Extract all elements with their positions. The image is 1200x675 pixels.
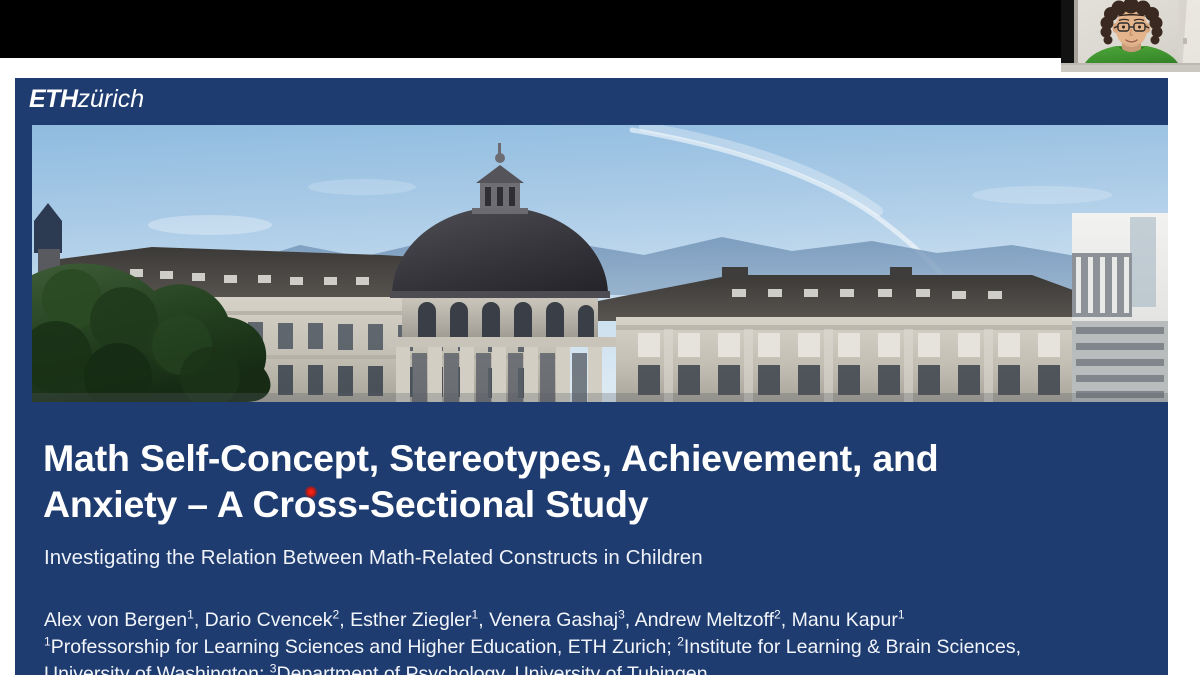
eth-logo-word: zürich (78, 85, 145, 113)
author-affiliation-marker: 2 (774, 608, 781, 622)
letterbox-bar-top (0, 0, 1200, 58)
title-line-2: Anxiety – A Cross-Sectional Study (43, 483, 648, 525)
author-affiliation-marker: 3 (618, 608, 625, 622)
affiliation-marker: 2 (677, 635, 684, 649)
slide-logo-bar: ETHzürich (15, 78, 1168, 125)
author-affiliation-marker: 1 (898, 608, 905, 622)
author-affiliation-marker: 1 (187, 608, 194, 622)
author-affiliation-marker: 1 (472, 608, 479, 622)
slide-title-block: Math Self-Concept, Stereotypes, Achievem… (15, 402, 1168, 675)
title-line-1: Math Self-Concept, Stereotypes, Achievem… (43, 437, 938, 479)
affiliation-text: Professorship for Learning Sciences and … (51, 636, 667, 658)
eth-logo-mark: ETH (29, 85, 78, 113)
affiliation-list: 1Professorship for Learning Sciences and… (44, 634, 1104, 675)
eth-main-building-photo (32, 125, 1168, 402)
affiliation-marker: 1 (44, 635, 51, 649)
author-name: Andrew Meltzoff (635, 609, 774, 631)
author-name: Dario Cvencek (205, 609, 333, 631)
author-name: Venera Gashaj (489, 609, 618, 631)
slide-subtitle: Investigating the Relation Between Math-… (44, 545, 1124, 571)
author-affiliation-marker: 2 (333, 608, 340, 622)
shared-screen-frame: ETHzürich (0, 0, 1200, 675)
author-name: Esther Ziegler (350, 609, 471, 631)
author-list: Alex von Bergen1, Dario Cvencek2, Esther… (44, 607, 1134, 634)
affiliation-marker: 3 (270, 662, 277, 675)
page-title: Math Self-Concept, Stereotypes, Achievem… (43, 435, 1103, 527)
eth-zurich-logo: ETHzürich (29, 87, 144, 112)
presenter-video-thumbnail[interactable] (1061, 0, 1200, 72)
author-name: Alex von Bergen (44, 609, 187, 631)
author-name: Manu Kapur (792, 609, 898, 631)
affiliation-text: Department of Psychology, University of … (277, 663, 708, 675)
presentation-slide[interactable]: ETHzürich (15, 78, 1168, 675)
